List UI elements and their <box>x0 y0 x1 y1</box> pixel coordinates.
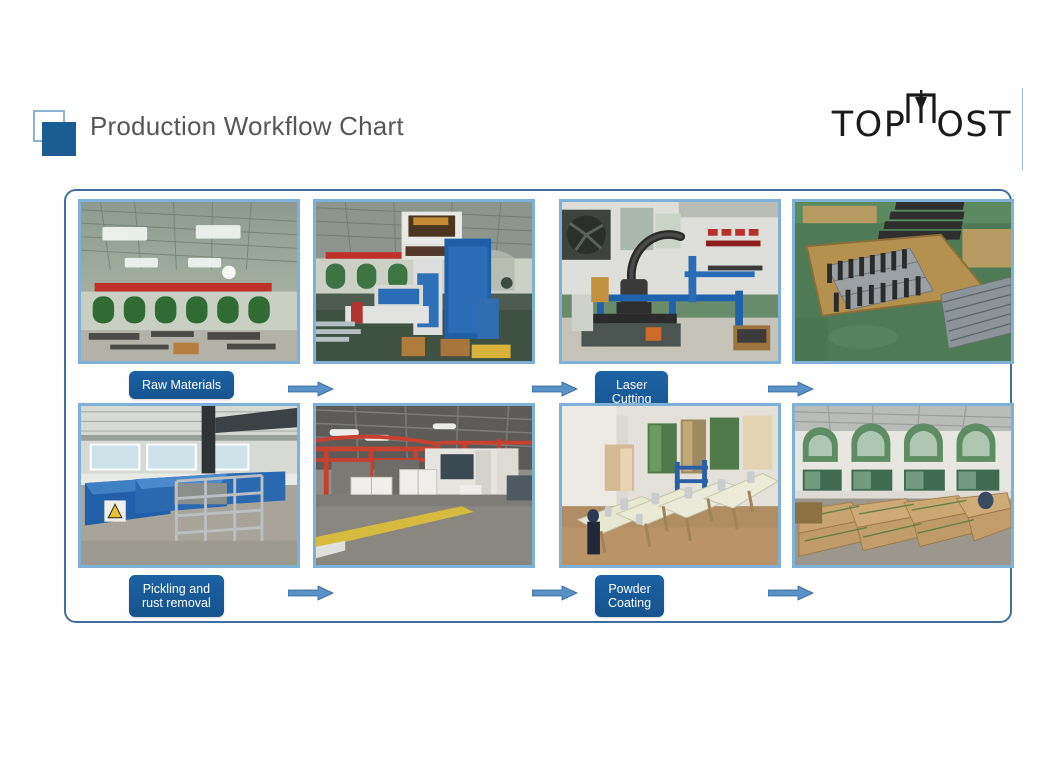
brand-wordmark: TOP OST <box>832 105 1012 145</box>
laser-cutting-machine-photo <box>313 199 535 364</box>
step-label-chip[interactable]: Raw Materials <box>129 371 234 399</box>
brand-logo: TOP OST <box>832 104 1012 146</box>
brand-divider <box>1022 88 1023 170</box>
workflow-step[interactable]: polished <box>792 199 1014 405</box>
workflow-step[interactable]: Raw Materials <box>78 199 300 405</box>
powder-coating-line-photo <box>313 403 535 568</box>
workflow-step[interactable]: Packaging <box>792 403 1014 609</box>
title-decoration-squares <box>33 110 83 160</box>
workflow-step[interactable]: Laser Cutting Machine <box>313 199 535 405</box>
workflow-row-2: Pickling and rust removal <box>66 403 1014 609</box>
packaging-warehouse-photo <box>792 403 1014 568</box>
workflow-step[interactable]: welding Robot <box>559 199 781 405</box>
workflow-step[interactable]: Powder Coating <box>313 403 535 609</box>
workflow-panel: Raw Materials <box>64 189 1012 623</box>
workflow-step[interactable]: Assembling <box>559 403 781 609</box>
workflow-row-1: Raw Materials <box>66 199 1014 405</box>
stylized-m-icon <box>906 110 936 136</box>
page-title: Production Workflow Chart <box>90 111 404 142</box>
brand-text-ost: OST <box>936 105 1012 145</box>
welding-robot-photo <box>559 199 781 364</box>
brand-text-top: TOP <box>832 105 907 145</box>
step-label-chip[interactable]: Pickling and rust removal <box>129 575 224 617</box>
pickling-tanks-photo <box>78 403 300 568</box>
page-header: Production Workflow Chart TOP OST <box>0 0 1060 180</box>
solid-square-icon <box>42 122 76 156</box>
polished-parts-photo <box>792 199 1014 364</box>
assembling-workshop-photo <box>559 403 781 568</box>
workflow-step[interactable]: Pickling and rust removal <box>78 403 300 609</box>
raw-materials-warehouse-photo <box>78 199 300 364</box>
